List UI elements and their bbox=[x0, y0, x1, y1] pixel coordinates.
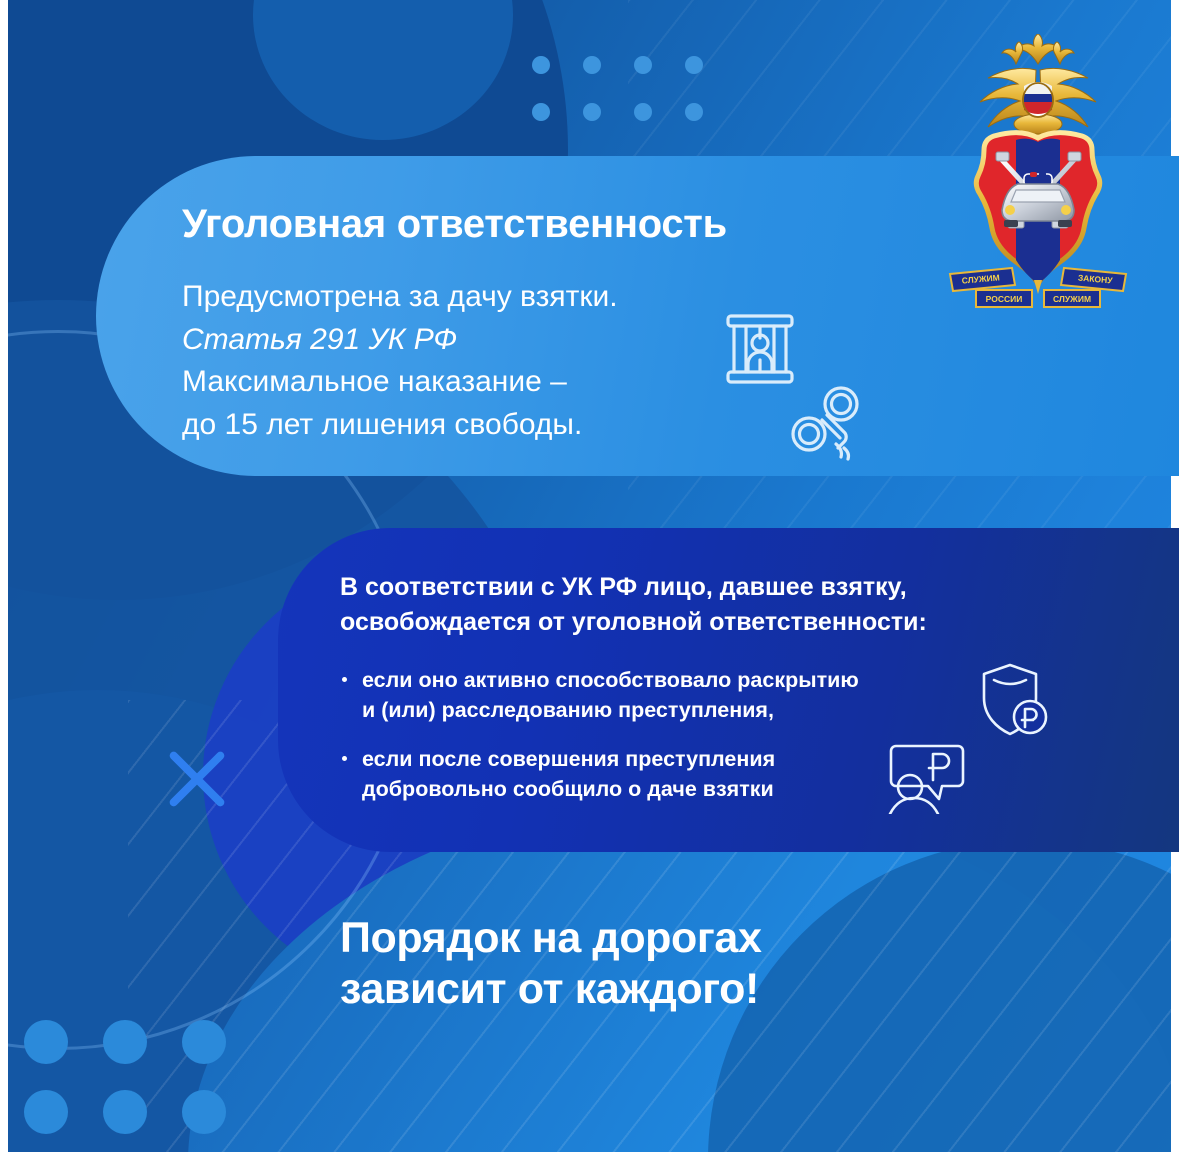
prisoner-behind-bars-icon bbox=[724, 312, 796, 386]
decor-dot bbox=[182, 1090, 226, 1134]
decor-dot bbox=[634, 56, 652, 74]
slogan-line-1: Порядок на дорогах bbox=[340, 913, 960, 964]
card2-bullet-list: если оно активно способствовало раскрыти… bbox=[340, 666, 1179, 805]
decor-dot bbox=[532, 56, 550, 74]
slogan-line-2: зависит от каждого! bbox=[340, 964, 960, 1015]
decor-dot-grid-bottom bbox=[24, 1020, 226, 1134]
decor-dot bbox=[103, 1090, 147, 1134]
bullet-2-line-1: если после совершения преступления bbox=[362, 747, 775, 771]
handcuffs-icon bbox=[784, 382, 868, 464]
card1-line-2: Статья 291 УК РФ bbox=[182, 319, 1179, 362]
bullet-2-line-2: добровольно сообщило о даче взятки bbox=[362, 777, 774, 801]
decor-dot bbox=[583, 56, 601, 74]
list-item: если оно активно способствовало раскрыти… bbox=[340, 666, 980, 725]
ribbon-text-center-right: СЛУЖИМ bbox=[1053, 294, 1091, 304]
decor-dot bbox=[24, 1020, 68, 1064]
decor-dot bbox=[685, 56, 703, 74]
card1-line-3: Максимальное наказание – bbox=[182, 361, 1179, 404]
decor-dot bbox=[634, 103, 652, 121]
decor-dot bbox=[182, 1020, 226, 1064]
ribbon-text-center-left: РОССИИ bbox=[986, 294, 1023, 304]
shield-ruble-icon bbox=[974, 660, 1048, 742]
bullet-1-line-1: если оно активно способствовало раскрыти… bbox=[362, 668, 859, 692]
bullet-1-line-2: и (или) расследованию преступления, bbox=[362, 698, 774, 722]
decor-dot bbox=[24, 1090, 68, 1134]
card2-heading-line-2: освобождается от уголовной ответственнос… bbox=[340, 608, 927, 636]
decor-dot bbox=[103, 1020, 147, 1064]
decor-dot bbox=[532, 103, 550, 121]
slogan-text: Порядок на дорогах зависит от каждого! bbox=[340, 913, 960, 1014]
decor-dot bbox=[583, 103, 601, 121]
mvd-gibdd-emblem: СЛУЖИМ ЗАКОНУ РОССИИ СЛУЖИМ bbox=[940, 34, 1136, 314]
card1-line-4: до 15 лет лишения свободы. bbox=[182, 404, 1179, 447]
card2-heading-line-1: В соответствии с УК РФ лицо, давшее взят… bbox=[340, 573, 907, 601]
decor-dot bbox=[685, 103, 703, 121]
list-item: если после совершения преступления добро… bbox=[340, 745, 980, 804]
card2-heading: В соответствии с УК РФ лицо, давшее взят… bbox=[340, 570, 1080, 640]
x-cross-icon bbox=[160, 742, 234, 816]
person-report-ruble-icon bbox=[888, 736, 968, 814]
poster-root: Уголовная ответственность Предусмотрена … bbox=[0, 0, 1179, 1152]
decor-dot-grid-top bbox=[532, 56, 703, 121]
